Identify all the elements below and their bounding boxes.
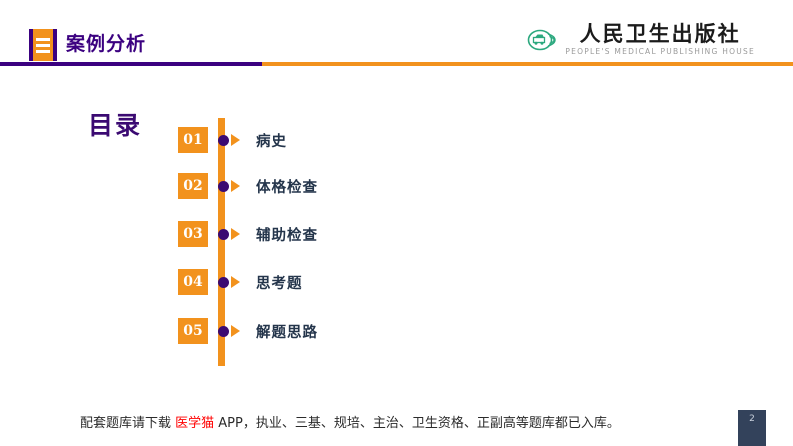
toc-number-badge: 01 [178, 127, 208, 153]
timeline-dot-icon [218, 135, 229, 146]
slide-header: 案例分析 人民卫生出版社 PEOPLE'S MEDICAL PUBLISHING… [0, 0, 793, 72]
pmph-emblem-icon [527, 26, 559, 54]
toc-item-label: 解题思路 [256, 321, 318, 342]
timeline-dot-icon [218, 229, 229, 240]
timeline-dot-icon [218, 326, 229, 337]
toc-item-label: 思考题 [256, 272, 303, 293]
header-divider-orange [262, 62, 793, 66]
arrow-right-icon [231, 276, 240, 288]
toc-item-2[interactable]: 02 体格检查 [178, 173, 318, 199]
header-divider-purple [0, 62, 262, 66]
toc-item-4[interactable]: 04 思考题 [178, 269, 303, 295]
hamburger-icon [29, 29, 57, 61]
logo-english-name: PEOPLE'S MEDICAL PUBLISHING HOUSE [565, 46, 755, 57]
toc-number-badge: 02 [178, 173, 208, 199]
hamburger-bar [36, 38, 50, 41]
page-title: 案例分析 [66, 31, 146, 57]
arrow-right-icon [231, 228, 240, 240]
publisher-logo: 人民卫生出版社 PEOPLE'S MEDICAL PUBLISHING HOUS… [527, 22, 755, 57]
toc-heading: 目录 [88, 110, 142, 142]
page-number-badge: 2 [738, 410, 766, 446]
footer-brand-name: 医学猫 [175, 416, 214, 431]
toc-number-badge: 03 [178, 221, 208, 247]
logo-chinese-name: 人民卫生出版社 [580, 22, 741, 45]
toc-item-5[interactable]: 05 解题思路 [178, 318, 318, 344]
hamburger-bar [36, 50, 50, 53]
arrow-right-icon [231, 325, 240, 337]
toc-item-3[interactable]: 03 辅助检查 [178, 221, 318, 247]
toc-item-label: 辅助检查 [256, 224, 318, 245]
arrow-right-icon [231, 134, 240, 146]
toc-number-badge: 04 [178, 269, 208, 295]
arrow-right-icon [231, 180, 240, 192]
toc-number-badge: 05 [178, 318, 208, 344]
footer-text-before: 配套题库请下载 [80, 416, 175, 431]
hamburger-bar [36, 44, 50, 47]
footer-note: 配套题库请下载 医学猫 APP，执业、三基、规培、主治、卫生资格、正副高等题库都… [80, 414, 620, 434]
page-number: 2 [738, 414, 766, 424]
timeline-dot-icon [218, 277, 229, 288]
footer-text-after: APP，执业、三基、规培、主治、卫生资格、正副高等题库都已入库。 [214, 416, 620, 431]
timeline-dot-icon [218, 181, 229, 192]
toc-item-1[interactable]: 01 病史 [178, 127, 287, 153]
toc-item-label: 体格检查 [256, 176, 318, 197]
toc-item-label: 病史 [256, 130, 287, 151]
